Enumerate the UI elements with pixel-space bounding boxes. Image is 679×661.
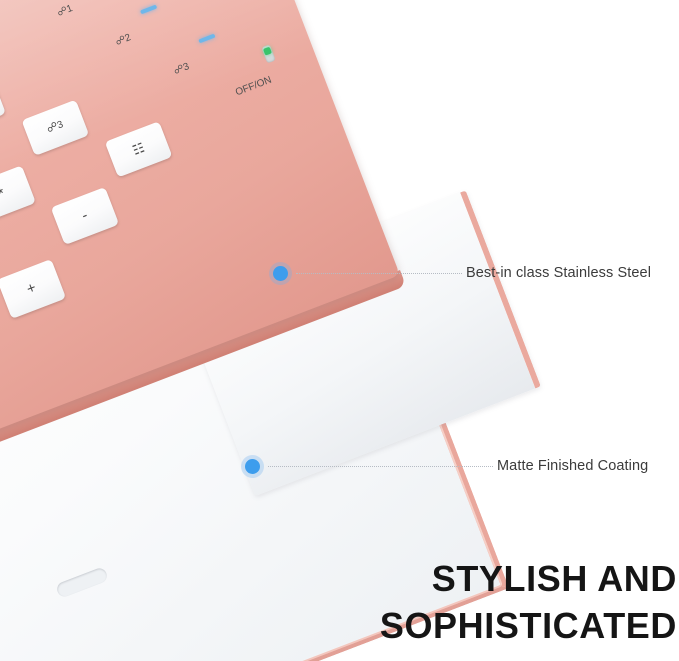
key-plus[interactable]: + [0,259,66,319]
product-feature-image: ☍1 ☍2 ☍3 OFF/ON A F12 delete backspace ☍… [0,0,679,661]
callout-dot-matte-coating[interactable] [245,459,260,474]
bluetooth-led-3 [198,34,215,43]
bluetooth-led-2 [140,5,157,14]
bezel-bluetooth-label-1: ☍1 [56,3,75,19]
key-bt3[interactable]: ☍3 [21,100,89,156]
key-bt2[interactable]: ☍2 [0,78,6,134]
bezel-bluetooth-label-3: ☍3 [172,61,191,77]
headline: STYLISH AND SOPHISTICATED [380,556,677,650]
callout-leader-matte-coating [268,466,493,468]
callout-dot-stainless-steel[interactable] [273,266,288,281]
callout-label-stainless-steel: Best-in class Stainless Steel [466,265,651,281]
headline-line-2: SOPHISTICATED [380,603,677,650]
bezel-bluetooth-label-2: ☍2 [114,32,133,48]
callout-label-matte-coating: Matte Finished Coating [497,458,648,474]
power-switch-label: OFF/ON [234,75,273,99]
callout-leader-stainless-steel [296,273,462,275]
key-minus[interactable]: - [51,187,119,245]
key-multiply[interactable]: * [0,165,36,223]
headline-line-1: STYLISH AND [380,556,677,603]
key-calculator[interactable]: ☷ [105,121,173,177]
